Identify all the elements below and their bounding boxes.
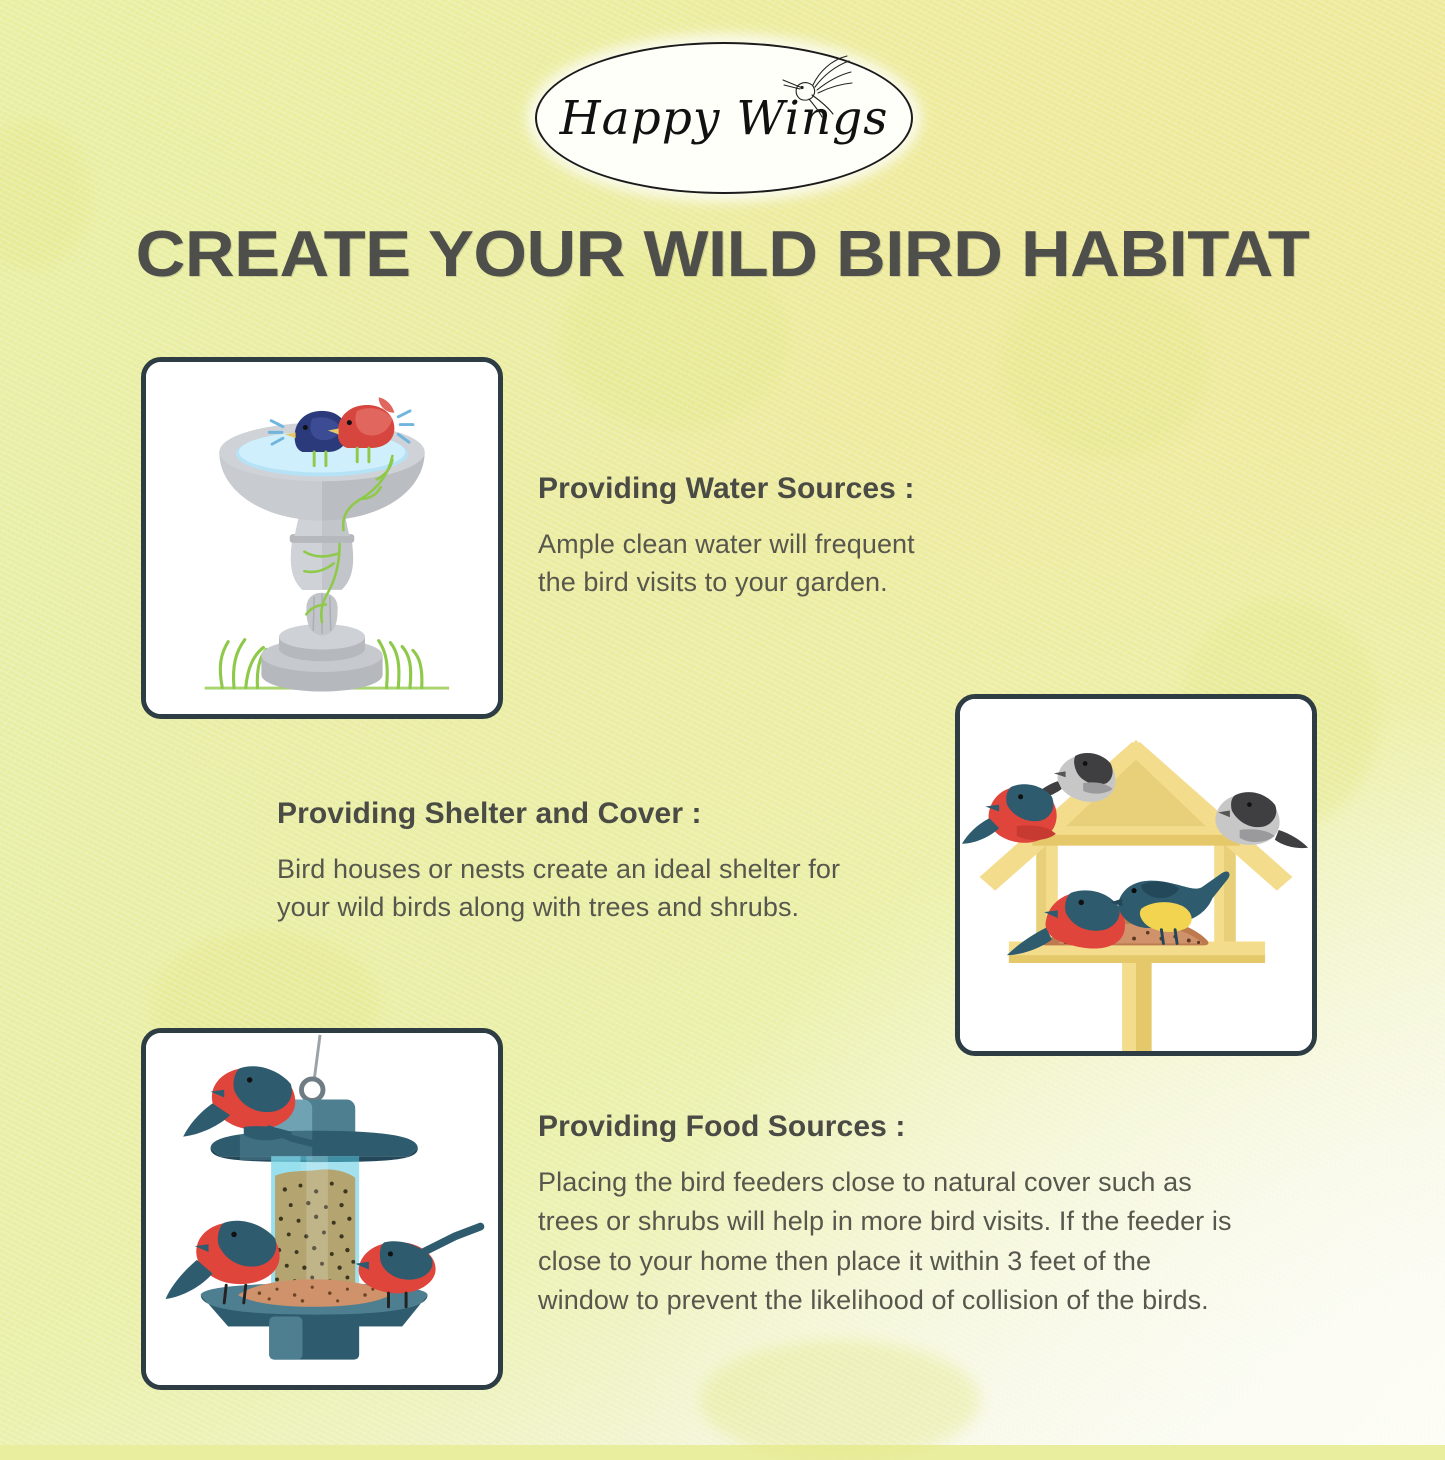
- section-water-body: Ample clean water will frequent the bird…: [538, 525, 1018, 602]
- brand-logo: Happy Wings: [535, 42, 913, 194]
- section-water-text: Providing Water Sources : Ample clean wa…: [538, 472, 1018, 602]
- tube-feeder-illustration: [146, 1033, 498, 1385]
- bird-bath-illustration: [146, 362, 498, 714]
- tube-feeder-image-card: [141, 1028, 503, 1390]
- section-water-heading: Providing Water Sources :: [538, 472, 1018, 506]
- section-food-heading: Providing Food Sources :: [538, 1110, 1338, 1144]
- section-shelter-body: Bird houses or nests create an ideal she…: [277, 850, 947, 927]
- page-title: CREATE YOUR WILD BIRD HABITAT: [0, 216, 1445, 291]
- section-shelter-text: Providing Shelter and Cover : Bird house…: [277, 797, 947, 927]
- section-shelter-heading: Providing Shelter and Cover :: [277, 797, 947, 831]
- bird-house-image-card: [955, 694, 1317, 1056]
- section-food-body: Placing the bird feeders close to natura…: [538, 1163, 1338, 1321]
- bird-bath-image-card: [141, 357, 503, 719]
- bird-house-illustration: [960, 699, 1312, 1051]
- hummingbird-icon: [769, 54, 859, 120]
- section-food-text: Providing Food Sources : Placing the bir…: [538, 1110, 1338, 1321]
